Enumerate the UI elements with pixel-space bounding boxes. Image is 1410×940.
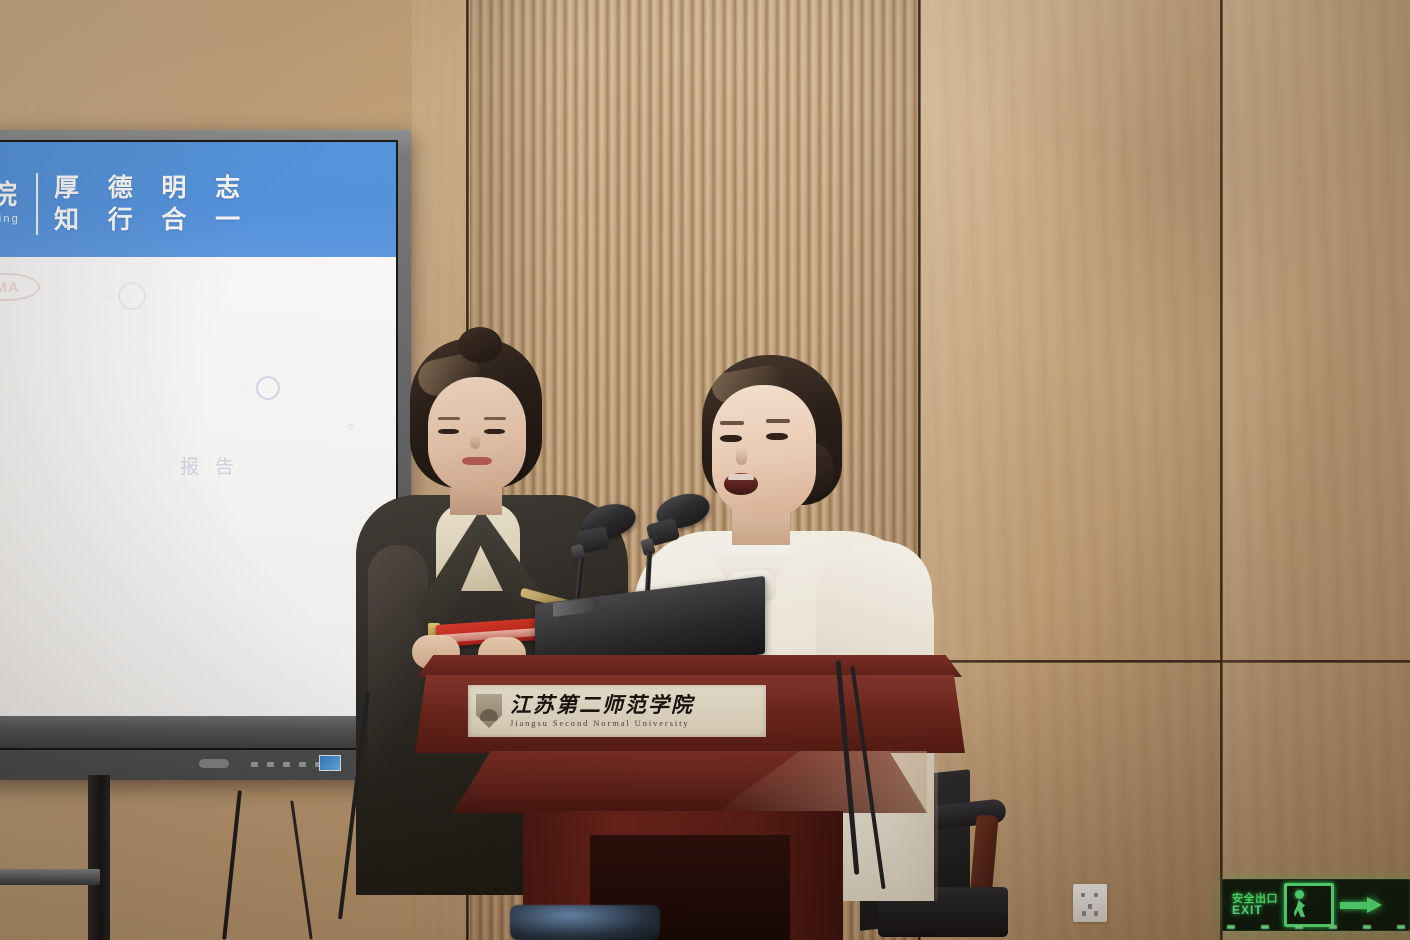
display-screen[interactable]: 机工程学院 omputer Engineering 厚 德 明 志 知 行 合 … xyxy=(0,142,396,748)
slide-school-name-cn: 机工程学院 xyxy=(0,182,20,209)
display-button-4[interactable] xyxy=(299,762,306,767)
display-button-1[interactable] xyxy=(251,762,258,767)
podium-plaque-name-en: Jiangsu Second Normal University xyxy=(510,719,758,728)
emergency-exit-sign: 安全出口 EXIT xyxy=(1222,879,1410,931)
slide-logo-ma: MA xyxy=(0,273,40,301)
slide-logo-partner-2: ···· xyxy=(242,377,302,399)
podium-top-edge xyxy=(417,655,962,677)
display-stand-post xyxy=(88,775,110,940)
left-presenter-eye-left xyxy=(438,429,459,434)
podium-equipment xyxy=(510,905,660,940)
university-crest-icon xyxy=(476,694,502,728)
slide-logo-ring-icon xyxy=(256,376,280,400)
slide-header-bar: 机工程学院 omputer Engineering 厚 德 明 志 知 行 合 … xyxy=(0,142,396,257)
exit-sign-label-en: EXIT xyxy=(1232,904,1278,917)
slide-body: MA ····· ···· ✧ ···· ····· ··· 报 告 xyxy=(0,257,396,748)
slide-logo-partner-1-text: ····· xyxy=(100,291,115,301)
display-stand-shelf xyxy=(0,869,100,885)
slide-title-text: 报 告 xyxy=(180,452,239,479)
slide-faint-text-2: ····· xyxy=(108,462,131,471)
lectern-podium: 江苏第二师范学院 Jiangsu Second Normal Universit… xyxy=(415,655,970,940)
slide-motto-line-2: 知 行 合 一 xyxy=(54,204,250,236)
slide-header-divider xyxy=(36,173,38,235)
slide-motto: 厚 德 明 志 知 行 合 一 xyxy=(54,172,250,236)
display-button-2[interactable] xyxy=(267,762,274,767)
display-control-strip xyxy=(0,716,396,748)
exit-sign-led-strip xyxy=(1227,925,1405,929)
display-power-button[interactable] xyxy=(199,759,229,768)
slide-school-name-en: omputer Engineering xyxy=(0,214,20,225)
right-presenter-face xyxy=(712,385,816,517)
left-presenter-eyebrow-left xyxy=(438,417,460,420)
slide-motto-line-1: 厚 德 明 志 xyxy=(54,172,250,204)
podium-plaque: 江苏第二师范学院 Jiangsu Second Normal Universit… xyxy=(468,685,766,737)
left-presenter-hair-bun xyxy=(458,327,502,363)
left-presenter-eyebrow-right xyxy=(484,417,506,420)
windows-logo-icon xyxy=(319,755,341,771)
left-presenter-nose xyxy=(470,435,480,449)
right-presenter-eye-right xyxy=(766,433,788,440)
slide-glare-overlay xyxy=(0,257,396,748)
slide-faint-text-3: ··· xyxy=(38,492,52,501)
left-presenter-eye-right xyxy=(484,429,505,434)
slide-logo-ring-icon xyxy=(118,282,146,310)
power-outlet[interactable] xyxy=(1073,884,1107,922)
podium-plaque-name-cn: 江苏第二师范学院 xyxy=(510,694,758,716)
arrow-right-icon xyxy=(1340,897,1382,913)
right-presenter-eyebrow-right xyxy=(766,419,790,423)
right-presenter-nose xyxy=(736,447,747,465)
right-presenter-eyebrow-left xyxy=(720,421,744,425)
display-button-3[interactable] xyxy=(283,762,290,767)
slide-faint-text-1: ···· xyxy=(35,462,53,471)
left-presenter-lips xyxy=(462,457,492,465)
display-button-row[interactable] xyxy=(251,762,322,767)
auditorium-scene: 机工程学院 omputer Engineering 厚 德 明 志 知 行 合 … xyxy=(0,0,1410,940)
slide-logo-partner-1: ····· xyxy=(100,283,180,309)
slide-logo-partner-2-text: ···· xyxy=(242,384,253,393)
wall-soft-shadow xyxy=(980,0,1360,380)
right-presenter-teeth xyxy=(728,474,754,480)
running-person-icon xyxy=(1284,883,1334,927)
right-presenter-eye-left xyxy=(720,435,742,442)
